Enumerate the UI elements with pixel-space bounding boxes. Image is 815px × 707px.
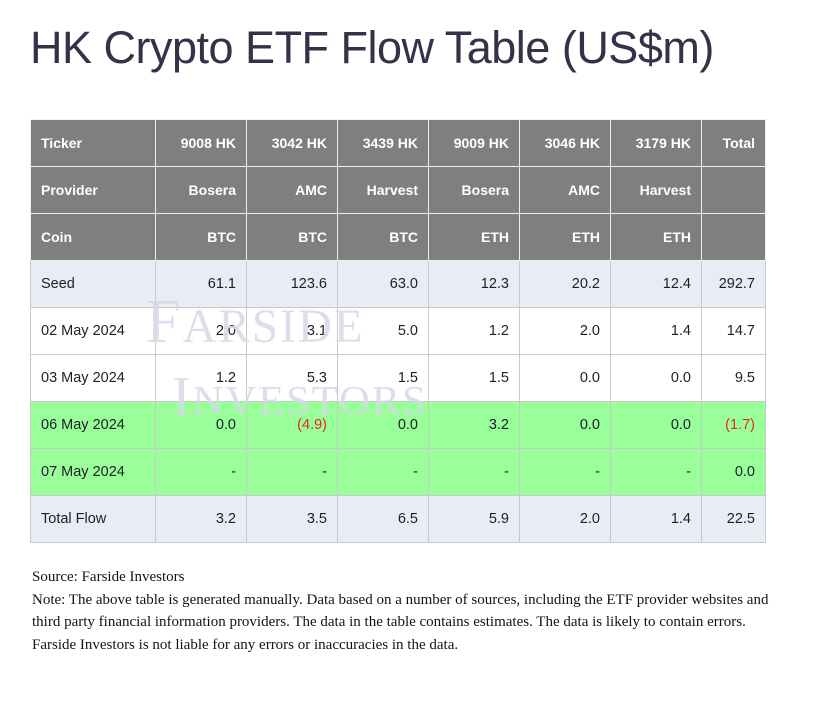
header-cell: Harvest [611, 167, 702, 214]
table-row: 03 May 20241.25.31.51.50.00.09.5 [31, 355, 766, 402]
note-line-2: third party financial information provid… [32, 611, 782, 634]
header-cell: ETH [429, 214, 520, 261]
data-cell: 6.5 [338, 496, 429, 543]
table-row: Seed61.1123.663.012.320.212.4292.7 [31, 261, 766, 308]
data-cell: 61.1 [156, 261, 247, 308]
header-cell: 9009 HK [429, 120, 520, 167]
data-cell: 63.0 [338, 261, 429, 308]
header-cell: Bosera [429, 167, 520, 214]
footer-notes: Source: Farside Investors Note: The abov… [32, 566, 782, 656]
data-cell: 9.5 [702, 355, 766, 402]
negative-value: (1.7) [725, 417, 755, 433]
data-cell: - [611, 449, 702, 496]
data-cell: 1.5 [338, 355, 429, 402]
data-cell: 3.5 [247, 496, 338, 543]
header-cell: AMC [520, 167, 611, 214]
data-cell: 292.7 [702, 261, 766, 308]
table-header-row: Ticker9008 HK3042 HK3439 HK9009 HK3046 H… [31, 120, 766, 167]
header-row-label: Coin [31, 214, 156, 261]
row-label: Seed [31, 261, 156, 308]
data-cell: 20.2 [520, 261, 611, 308]
data-cell: 1.4 [611, 496, 702, 543]
data-cell: 1.2 [156, 355, 247, 402]
page-title: HK Crypto ETF Flow Table (US$m) [30, 22, 714, 74]
data-cell: - [247, 449, 338, 496]
data-cell: 1.4 [611, 308, 702, 355]
data-cell: 5.0 [338, 308, 429, 355]
table-row: 06 May 20240.0(4.9)0.03.20.00.0(1.7) [31, 402, 766, 449]
data-cell: 2.0 [520, 308, 611, 355]
data-cell: 1.2 [429, 308, 520, 355]
data-cell: 2.0 [156, 308, 247, 355]
row-label: 07 May 2024 [31, 449, 156, 496]
data-cell: - [156, 449, 247, 496]
data-cell: 5.9 [429, 496, 520, 543]
data-cell: 2.0 [520, 496, 611, 543]
table-header-row: ProviderBoseraAMCHarvestBoseraAMCHarvest [31, 167, 766, 214]
source-line: Source: Farside Investors [32, 566, 782, 589]
data-cell: - [520, 449, 611, 496]
negative-value: (4.9) [297, 417, 327, 433]
header-row-label: Provider [31, 167, 156, 214]
note-line-3: Farside Investors is not liable for any … [32, 634, 782, 657]
data-cell: 123.6 [247, 261, 338, 308]
row-label: 06 May 2024 [31, 402, 156, 449]
data-cell: 14.7 [702, 308, 766, 355]
header-cell: Total [702, 120, 766, 167]
data-cell: 1.5 [429, 355, 520, 402]
header-cell [702, 214, 766, 261]
header-cell: 3042 HK [247, 120, 338, 167]
header-cell: AMC [247, 167, 338, 214]
data-cell: 0.0 [520, 355, 611, 402]
row-label: Total Flow [31, 496, 156, 543]
table-header-row: CoinBTCBTCBTCETHETHETH [31, 214, 766, 261]
header-cell: 3439 HK [338, 120, 429, 167]
header-cell: 3046 HK [520, 120, 611, 167]
row-label: 03 May 2024 [31, 355, 156, 402]
data-cell: 3.2 [156, 496, 247, 543]
header-cell: 3179 HK [611, 120, 702, 167]
table-row: 07 May 2024------0.0 [31, 449, 766, 496]
data-cell: - [338, 449, 429, 496]
header-cell: ETH [611, 214, 702, 261]
data-cell: 3.2 [429, 402, 520, 449]
hk-crypto-etf-flow-table: Ticker9008 HK3042 HK3439 HK9009 HK3046 H… [30, 119, 766, 543]
header-cell: Bosera [156, 167, 247, 214]
data-cell: 0.0 [702, 449, 766, 496]
data-cell: 5.3 [247, 355, 338, 402]
header-cell [702, 167, 766, 214]
data-cell: (1.7) [702, 402, 766, 449]
header-cell: BTC [338, 214, 429, 261]
data-cell: 0.0 [611, 355, 702, 402]
header-row-label: Ticker [31, 120, 156, 167]
header-cell: 9008 HK [156, 120, 247, 167]
flow-table-container: FARSIDE INVESTORS Ticker9008 HK3042 HK34… [30, 119, 766, 543]
data-cell: (4.9) [247, 402, 338, 449]
data-cell: - [429, 449, 520, 496]
table-row: 02 May 20242.03.15.01.22.01.414.7 [31, 308, 766, 355]
header-cell: BTC [247, 214, 338, 261]
data-cell: 22.5 [702, 496, 766, 543]
data-cell: 3.1 [247, 308, 338, 355]
data-cell: 0.0 [156, 402, 247, 449]
table-row: Total Flow3.23.56.55.92.01.422.5 [31, 496, 766, 543]
note-line-1: Note: The above table is generated manua… [32, 589, 782, 612]
header-cell: BTC [156, 214, 247, 261]
header-cell: ETH [520, 214, 611, 261]
data-cell: 0.0 [338, 402, 429, 449]
row-label: 02 May 2024 [31, 308, 156, 355]
data-cell: 12.3 [429, 261, 520, 308]
data-cell: 12.4 [611, 261, 702, 308]
data-cell: 0.0 [520, 402, 611, 449]
header-cell: Harvest [338, 167, 429, 214]
data-cell: 0.0 [611, 402, 702, 449]
